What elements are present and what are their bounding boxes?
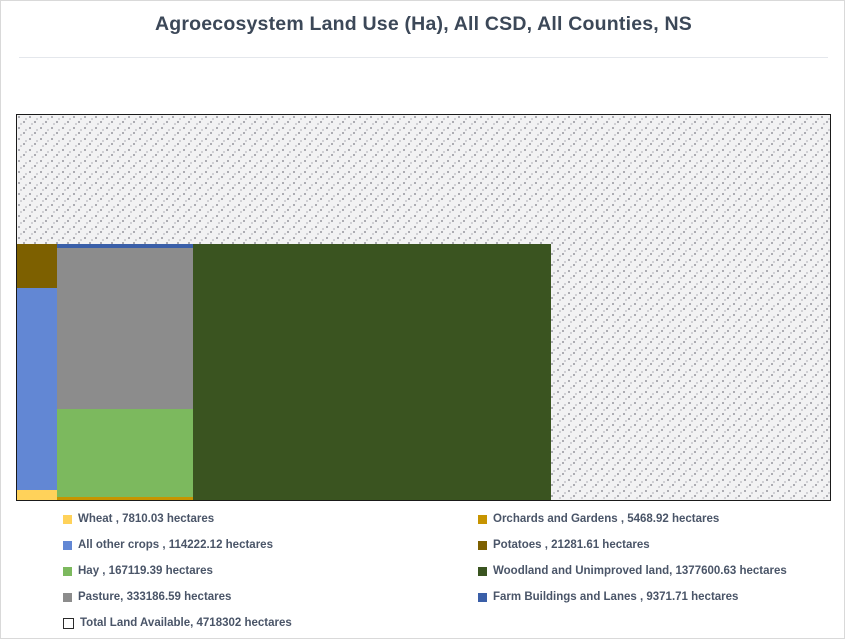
legend-swatch-icon — [478, 515, 487, 524]
legend-item-label: Orchards and Gardens , 5468.92 hectares — [493, 513, 719, 525]
treemap-tile-wheat[interactable] — [17, 490, 57, 501]
legend-item[interactable]: Potatoes , 21281.61 hectares — [478, 538, 650, 552]
treemap-tile-all-other-crops[interactable] — [17, 288, 57, 490]
legend-swatch-icon — [478, 567, 487, 576]
title-divider — [19, 57, 828, 58]
legend-item[interactable]: Orchards and Gardens , 5468.92 hectares — [478, 512, 719, 526]
legend-item[interactable]: Total Land Available, 4718302 hectares — [63, 616, 292, 630]
legend-item[interactable]: Wheat , 7810.03 hectares — [63, 512, 214, 526]
treemap-tile-woodland[interactable] — [193, 244, 551, 501]
legend-item-label: Woodland and Unimproved land, 1377600.63… — [493, 565, 787, 577]
legend-item-label: Hay , 167119.39 hectares — [78, 565, 213, 577]
legend-item[interactable]: Farm Buildings and Lanes , 9371.71 hecta… — [478, 590, 738, 604]
legend-item-label: Pasture, 333186.59 hectares — [78, 591, 231, 603]
chart-legend: Wheat , 7810.03 hectaresAll other crops … — [63, 512, 843, 630]
legend-swatch-icon — [63, 567, 72, 576]
treemap-tile-orchards[interactable] — [57, 497, 193, 501]
legend-swatch-icon — [63, 593, 72, 602]
legend-item[interactable]: All other crops , 114222.12 hectares — [63, 538, 273, 552]
legend-swatch-icon — [63, 618, 74, 629]
chart-title: Agroecosystem Land Use (Ha), All CSD, Al… — [1, 13, 845, 36]
treemap-tile-pasture[interactable] — [57, 248, 193, 409]
treemap-tile-hay[interactable] — [57, 409, 193, 497]
legend-item-label: Wheat , 7810.03 hectares — [78, 513, 214, 525]
legend-swatch-icon — [478, 593, 487, 602]
legend-item[interactable]: Pasture, 333186.59 hectares — [63, 590, 231, 604]
legend-swatch-icon — [63, 515, 72, 524]
chart-frame: Agroecosystem Land Use (Ha), All CSD, Al… — [0, 0, 845, 639]
legend-item[interactable]: Woodland and Unimproved land, 1377600.63… — [478, 564, 787, 578]
legend-item-label: Farm Buildings and Lanes , 9371.71 hecta… — [493, 591, 738, 603]
legend-item-label: Potatoes , 21281.61 hectares — [493, 539, 650, 551]
treemap-tile-potatoes[interactable] — [17, 244, 57, 288]
legend-swatch-icon — [63, 541, 72, 550]
legend-item-label: All other crops , 114222.12 hectares — [78, 539, 273, 551]
legend-swatch-icon — [478, 541, 487, 550]
legend-item[interactable]: Hay , 167119.39 hectares — [63, 564, 213, 578]
treemap-plot-area[interactable] — [16, 114, 831, 501]
legend-item-label: Total Land Available, 4718302 hectares — [80, 617, 292, 629]
